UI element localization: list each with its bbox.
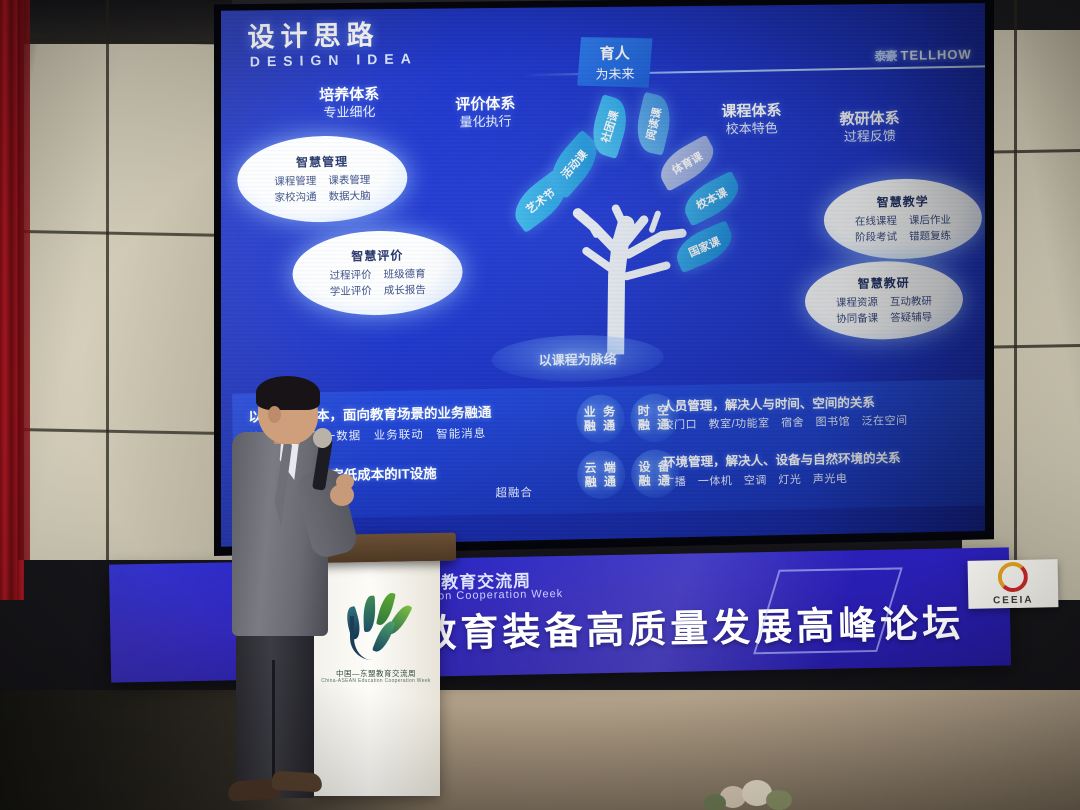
leaf-label: 国家课 bbox=[686, 233, 723, 261]
ellipse-item: 协同备课 bbox=[836, 311, 878, 327]
ellipse-item: 过程评价 bbox=[330, 268, 372, 284]
panel-seam bbox=[106, 0, 109, 560]
ellipse-zhihui-pingjia: 智慧评价 过程评价 学业评价 班级德育 成长报告 bbox=[292, 229, 463, 316]
band-right-line3: 环境管理，解决人、设备与自然环境的关系 bbox=[663, 445, 983, 470]
leaf-label: 社团课 bbox=[597, 108, 622, 144]
ceeia-logo: CEEIA bbox=[968, 559, 1059, 609]
presentation-slide: 设计思路 DESIGN IDEA 泰豪 TELLHOW 培养体系 专业细化 评价… bbox=[221, 2, 985, 550]
ellipse-zhihui-jiaoxue: 智慧教学 在线课程 阶段考试 课后作业 错题复练 bbox=[823, 177, 982, 260]
ellipse-col: 课程管理 家校沟通 bbox=[274, 174, 316, 205]
circle-line1: 云 端 bbox=[584, 460, 618, 475]
panel-seam bbox=[1014, 0, 1017, 600]
tellhow-logo: 泰豪 TELLHOW bbox=[874, 46, 971, 65]
ellipse-zhihui-guanli: 智慧管理 课程管理 家校沟通 课表管理 数据大脑 bbox=[237, 134, 408, 223]
speaker-trouser-seam bbox=[272, 660, 275, 790]
ellipse-item: 数据大脑 bbox=[328, 189, 370, 205]
speaker-shoe-right bbox=[272, 771, 323, 793]
ellipse-item: 学业评价 bbox=[330, 284, 372, 300]
band-right-line4: 广播 一体机 空调 灯光 声光电 bbox=[663, 467, 983, 489]
ellipse-col: 班级德育 成长报告 bbox=[383, 267, 425, 298]
band-right-line2: 校门口 教室/功能室 宿舍 图书馆 泛在空间 bbox=[662, 410, 982, 432]
left-wall-panels bbox=[0, 0, 232, 560]
ellipse-item: 成长报告 bbox=[384, 283, 426, 299]
ellipse-col: 过程评价 学业评价 bbox=[330, 268, 372, 299]
ellipse-heading: 智慧教学 bbox=[877, 193, 929, 211]
led-screen: 设计思路 DESIGN IDEA 泰豪 TELLHOW 培养体系 专业细化 评价… bbox=[221, 2, 985, 550]
slide-title: 设计思路 bbox=[247, 13, 379, 55]
red-curtain-fold bbox=[18, 0, 30, 560]
circle-line2: 融 通 bbox=[584, 418, 618, 433]
ellipse-item: 课表管理 bbox=[328, 173, 370, 189]
ceeia-ring-icon bbox=[998, 562, 1029, 593]
focus-box-yuren: 育人 为未来 bbox=[576, 36, 653, 89]
leaf-label: 阅读课 bbox=[642, 106, 665, 142]
panel-seam bbox=[4, 428, 236, 435]
ellipse-item: 家校沟通 bbox=[274, 190, 316, 206]
ellipse-columns: 课程资源 协同备课 互动教研 答疑辅导 bbox=[836, 295, 932, 327]
focus-box-main: 育人 bbox=[600, 42, 630, 64]
tellhow-logo-mark: 泰豪 bbox=[874, 47, 896, 64]
ceeia-label: CEEIA bbox=[993, 595, 1034, 607]
ellipse-heading: 智慧管理 bbox=[296, 153, 348, 171]
ellipse-item: 互动教研 bbox=[890, 295, 932, 311]
ellipse-col: 课后作业 错题复练 bbox=[909, 213, 951, 244]
speaker-ear bbox=[268, 406, 281, 423]
ellipse-heading: 智慧教研 bbox=[858, 274, 910, 292]
ellipse-heading: 智慧评价 bbox=[351, 247, 403, 265]
photo-scene: 设计思路 DESIGN IDEA 泰豪 TELLHOW 培养体系 专业细化 评价… bbox=[0, 0, 1080, 810]
ellipse-item: 班级德育 bbox=[383, 267, 425, 283]
podium-logo-text-en: China-ASEAN Education Cooperation Week bbox=[312, 678, 440, 684]
caption-peiyang: 培养体系 专业细化 bbox=[294, 84, 404, 122]
banner-diamond-decor bbox=[753, 567, 903, 654]
ellipse-item: 答疑辅导 bbox=[890, 310, 932, 326]
ellipse-item: 错题复练 bbox=[909, 229, 951, 245]
circle-line2: 融 通 bbox=[585, 474, 619, 489]
circle-line1: 业 务 bbox=[584, 404, 618, 419]
ellipse-zhihui-jiaoyan: 智慧教研 课程资源 协同备课 互动教研 答疑辅导 bbox=[804, 260, 963, 341]
curriculum-tree: 艺术节 活动课 社团课 阅读课 体育课 校本课 国家课 bbox=[514, 102, 737, 356]
ellipse-columns: 过程评价 学业评价 班级德育 成长报告 bbox=[330, 267, 426, 299]
slide-subtitle: DESIGN IDEA bbox=[250, 50, 418, 69]
circle-yewu-rongtong: 业 务 融 通 bbox=[576, 394, 625, 443]
tellhow-logo-text: TELLHOW bbox=[900, 47, 971, 63]
tree-base-text: 以课程为脉络 bbox=[539, 348, 617, 368]
flower-arrangement bbox=[700, 768, 810, 810]
panel-seam bbox=[10, 230, 242, 237]
caption-sub: 过程反馈 bbox=[815, 128, 925, 147]
caption-sub: 专业细化 bbox=[294, 104, 404, 123]
caption-jiaoyan: 教研体系 过程反馈 bbox=[814, 109, 924, 147]
podium-logo-icon bbox=[342, 586, 414, 666]
focus-box-sub: 为未来 bbox=[595, 63, 634, 83]
ellipse-item: 阶段考试 bbox=[855, 230, 897, 246]
ellipse-item: 在线课程 bbox=[855, 214, 897, 230]
ellipse-item: 课程管理 bbox=[274, 174, 316, 190]
ellipse-col: 在线课程 阶段考试 bbox=[855, 214, 897, 245]
ellipse-col: 互动教研 答疑辅导 bbox=[890, 295, 932, 326]
ellipse-col: 课表管理 数据大脑 bbox=[328, 173, 370, 204]
ellipse-columns: 课程管理 家校沟通 课表管理 数据大脑 bbox=[274, 173, 370, 205]
ellipse-col: 课程资源 协同备课 bbox=[836, 296, 878, 327]
speaker-hair bbox=[256, 376, 320, 410]
ellipse-item: 课后作业 bbox=[909, 213, 951, 229]
speaker-fingers bbox=[336, 474, 354, 490]
ellipse-item: 课程资源 bbox=[836, 296, 878, 312]
caption-main: 培养体系 bbox=[294, 84, 404, 105]
circle-yunduan-rongtong: 云 端 融 通 bbox=[577, 450, 626, 499]
caption-main: 教研体系 bbox=[814, 109, 924, 130]
ellipse-columns: 在线课程 阶段考试 课后作业 错题复练 bbox=[855, 213, 951, 245]
